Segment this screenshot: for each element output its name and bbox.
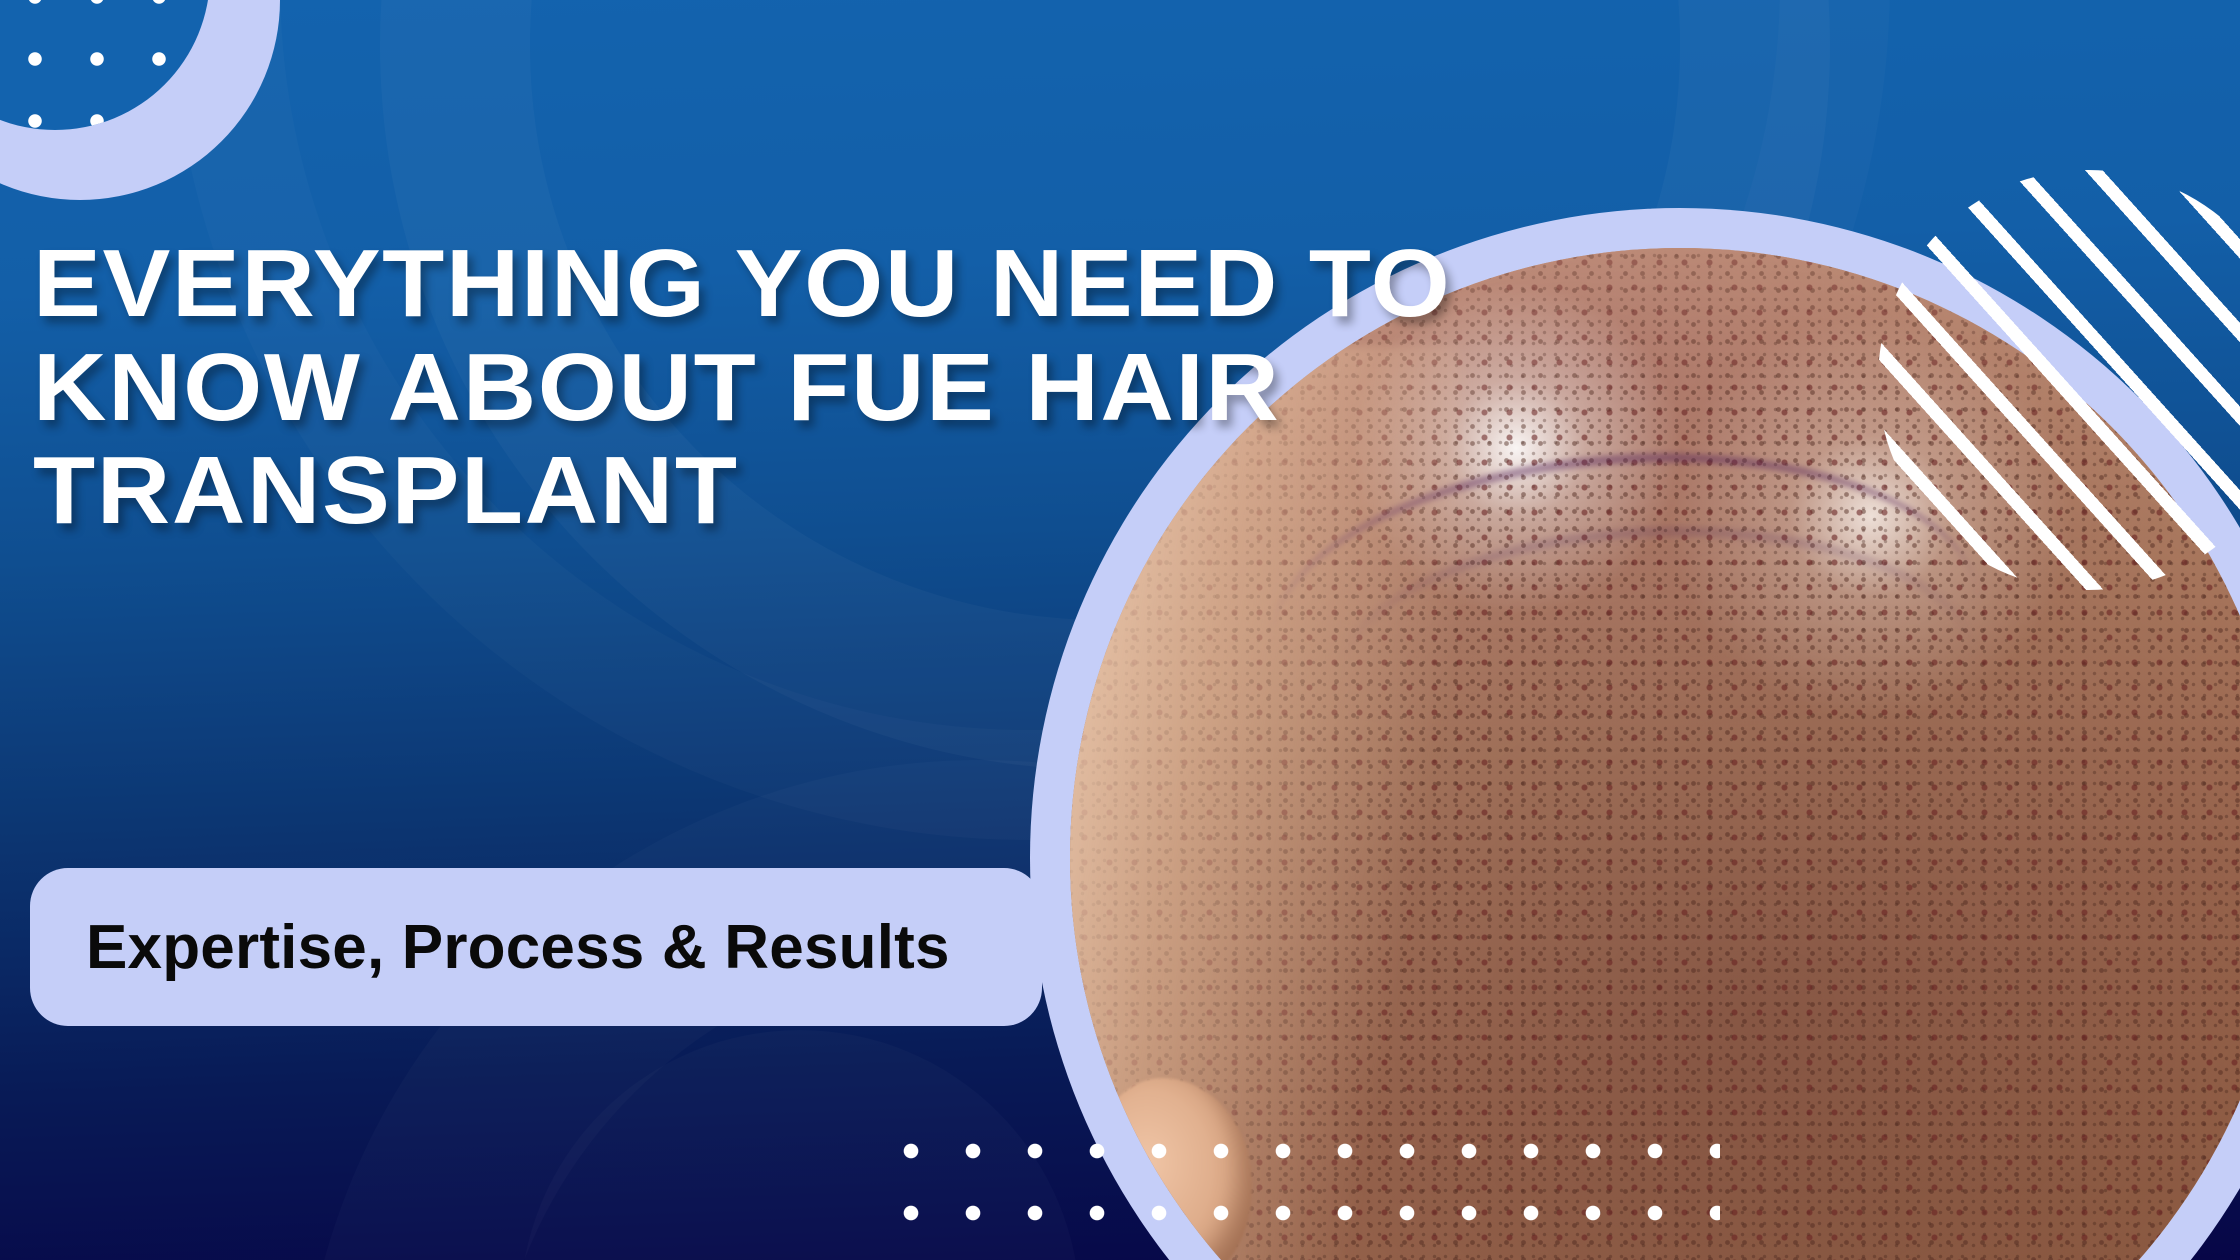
top-left-dot-pattern: [0, 0, 210, 130]
subtitle-badge-label: Expertise, Process & Results: [86, 912, 950, 983]
background-blob-bottom: [520, 1030, 1080, 1260]
top-left-dotted-disc: [0, 0, 210, 130]
subtitle-badge: Expertise, Process & Results: [30, 868, 1042, 1026]
promo-banner: EVERYTHING YOU NEED TO KNOW ABOUT FUE HA…: [0, 0, 2240, 1260]
page-title: EVERYTHING YOU NEED TO KNOW ABOUT FUE HA…: [33, 232, 1665, 543]
